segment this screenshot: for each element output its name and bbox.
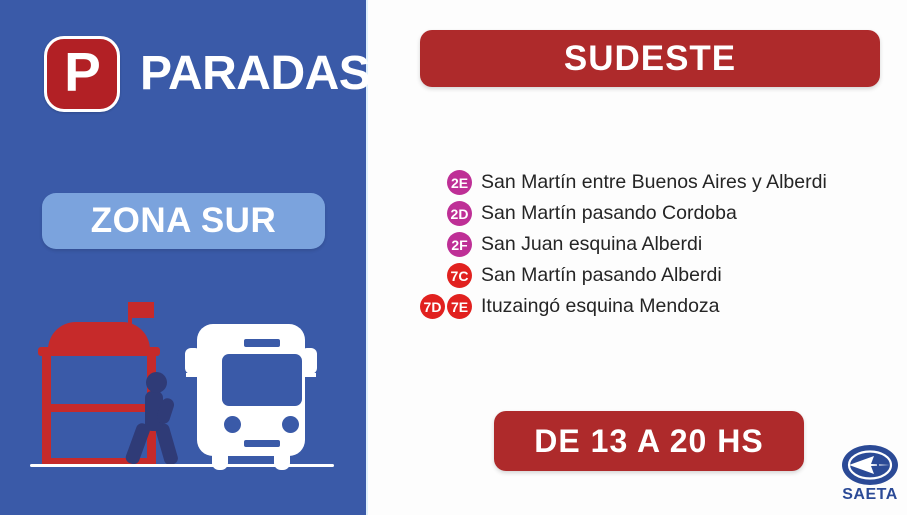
shelter-flag [132,302,154,318]
stop-row: 2DSan Martín pasando Cordoba [416,198,906,229]
stop-line-badge: 7E [447,294,472,319]
stop-line-badge: 7D [420,294,445,319]
walking-person-icon [132,372,176,466]
saeta-arrow-logo-icon [840,443,900,487]
paradas-brand-lockup: P PARADAS [44,36,370,112]
schedule-banner: DE 13 A 20 HS [494,411,804,471]
bus-windshield [222,354,302,406]
bus-body [197,324,305,456]
zone-label: ZONA SUR [91,201,276,241]
bus-headlight-left [224,416,241,433]
schedule-label: DE 13 A 20 HS [534,423,763,460]
brand-title: PARADAS [140,50,370,98]
stop-row: 2ESan Martín entre Buenos Aires y Alberd… [416,167,906,198]
stop-name: San Martín entre Buenos Aires y Alberdi [481,173,827,193]
route-header-title: SUDESTE [564,39,736,79]
stop-badges: 2D [416,201,472,226]
zone-pill: ZONA SUR [42,193,325,249]
stop-name: San Martín pasando Alberdi [481,266,722,286]
stop-badges: 7C [416,263,472,288]
bus-license-plate [244,440,280,447]
saeta-wordmark: SAETA [836,486,904,504]
stop-line-badge: 7C [447,263,472,288]
route-header-banner: SUDESTE [420,30,880,87]
left-blue-panel: P PARADAS ZONA SUR [0,0,368,515]
stop-row: 7CSan Martín pasando Alberdi [416,260,906,291]
shelter-eave [38,347,160,356]
right-content-panel: SUDESTE 2ESan Martín entre Buenos Aires … [368,0,907,515]
stop-line-badge: 2F [447,232,472,257]
stop-name: Ituzaingó esquina Mendoza [481,297,720,317]
parking-badge-letter: P [64,45,100,100]
bus-front-icon [186,318,316,468]
stop-line-badge: 2D [447,201,472,226]
stops-list: 2ESan Martín entre Buenos Aires y Alberd… [416,167,906,322]
stop-row: 2FSan Juan esquina Alberdi [416,229,906,260]
bus-stop-poster: P PARADAS ZONA SUR [0,0,907,515]
person-head [146,372,167,393]
stop-badges: 2F [416,232,472,257]
bus-headlight-right [282,416,299,433]
stop-name: San Juan esquina Alberdi [481,235,702,255]
stop-badges: 2E [416,170,472,195]
stop-name: San Martín pasando Cordoba [481,204,737,224]
bus-destination-sign [244,339,280,347]
parking-p-icon: P [44,36,120,112]
saeta-logo: SAETA [836,443,904,509]
bus-stop-illustration [0,300,368,490]
stop-line-badge: 2E [447,170,472,195]
ground-line [30,464,334,467]
stop-badges: 7D7E [416,294,472,319]
stop-row: 7D7EItuzaingó esquina Mendoza [416,291,906,322]
